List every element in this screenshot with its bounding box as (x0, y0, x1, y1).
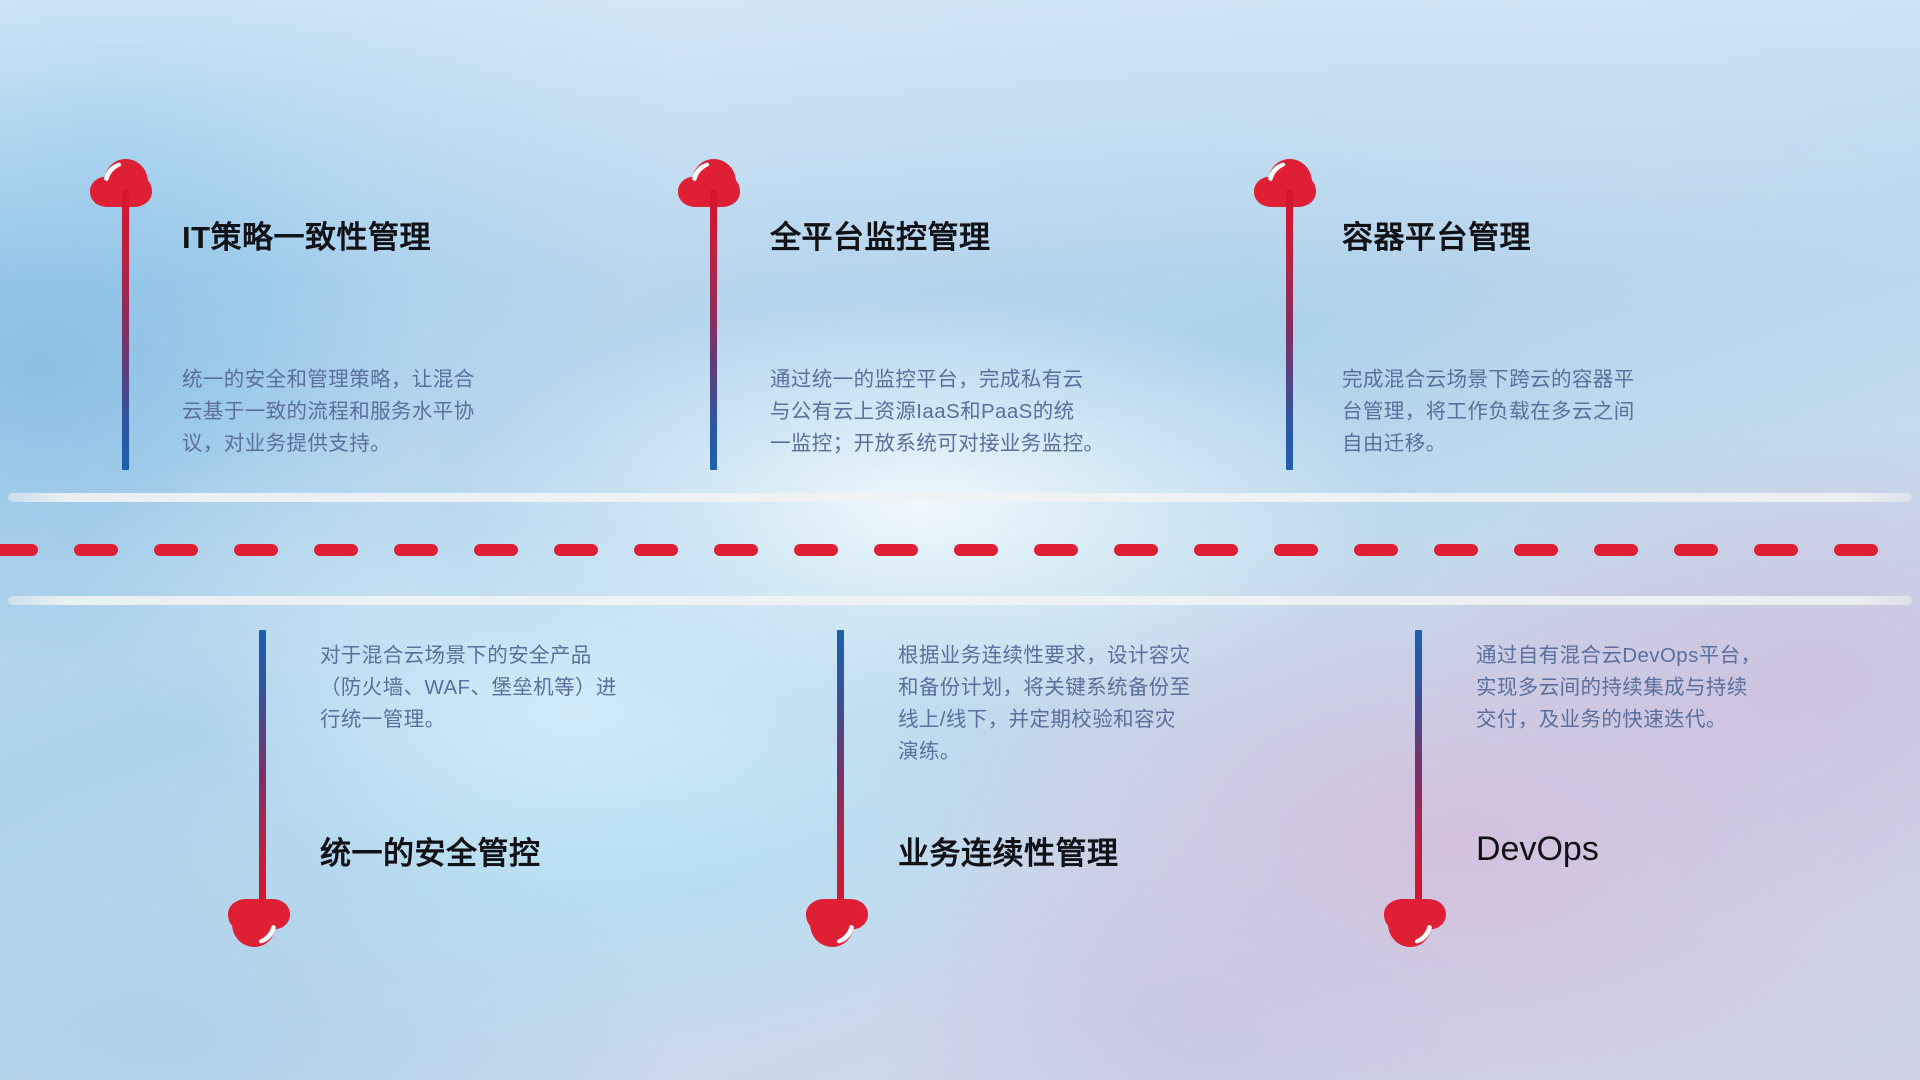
pin-stem (710, 190, 717, 470)
bottom-pin-1-title: 统一的安全管控 (320, 838, 541, 869)
top-pin-2-body: 通过统一的监控平台，完成私有云 与公有云上资源IaaS和PaaS的统 一监控；开… (770, 364, 1104, 460)
cloud-icon (88, 158, 152, 208)
dash-segment (74, 544, 118, 556)
dash-segment (1194, 544, 1238, 556)
dash-segment (714, 544, 758, 556)
dash-segment (394, 544, 438, 556)
top-pin-2-title: 全平台监控管理 (770, 222, 991, 253)
dash-segment (154, 544, 198, 556)
dash-segment (1034, 544, 1078, 556)
dash-segment (634, 544, 678, 556)
top-pin-1-body: 统一的安全和管理策略，让混合 云基于一致的流程和服务水平协 议，对业务提供支持。 (182, 364, 475, 460)
dash-segment (474, 544, 518, 556)
pin-stem (837, 630, 844, 910)
cloud-icon (228, 898, 292, 948)
cloud-icon (1384, 898, 1448, 948)
pin-stem (122, 190, 129, 470)
dash-segment (1834, 544, 1878, 556)
bottom-pin-1-body: 对于混合云场景下的安全产品 （防火墙、WAF、堡垒机等）进 行统一管理。 (320, 640, 617, 736)
bottom-pin-3-title: DevOps (1476, 832, 1599, 866)
dash-segment (1114, 544, 1158, 556)
dash-segment (234, 544, 278, 556)
dash-segment (1434, 544, 1478, 556)
dash-segment (874, 544, 918, 556)
dash-segment (1274, 544, 1318, 556)
cloud-icon (806, 898, 870, 948)
dash-segment (1594, 544, 1638, 556)
cloud-icon (676, 158, 740, 208)
bottom-pin-3-body: 通过自有混合云DevOps平台， 实现多云间的持续集成与持续 交付，及业务的快速… (1476, 640, 1761, 736)
pin-stem (1286, 190, 1293, 470)
infographic-canvas: IT策略一致性管理 统一的安全和管理策略，让混合 云基于一致的流程和服务水平协 … (0, 0, 1920, 1080)
dash-segment (0, 544, 38, 556)
dash-segment (1674, 544, 1718, 556)
pin-stem (259, 630, 266, 910)
dash-segment (314, 544, 358, 556)
divider-rail-top (8, 493, 1912, 502)
top-pin-1-title: IT策略一致性管理 (182, 222, 431, 253)
bottom-pin-2-body: 根据业务连续性要求，设计容灾 和备份计划，将关键系统备份至 线上/线下，并定期校… (898, 640, 1191, 768)
bottom-pin-2-title: 业务连续性管理 (898, 838, 1119, 869)
divider-rail-bottom (8, 596, 1912, 605)
dash-segment (554, 544, 598, 556)
top-pin-3-body: 完成混合云场景下跨云的容器平 台管理，将工作负载在多云之间 自由迁移。 (1342, 364, 1635, 460)
dash-segment (1354, 544, 1398, 556)
cloud-icon (1252, 158, 1316, 208)
pin-stem (1415, 630, 1422, 910)
divider-dashed-red (0, 544, 1920, 556)
dash-segment (794, 544, 838, 556)
dash-segment (954, 544, 998, 556)
top-pin-3-title: 容器平台管理 (1342, 222, 1531, 253)
dash-segment (1514, 544, 1558, 556)
dash-segment (1754, 544, 1798, 556)
